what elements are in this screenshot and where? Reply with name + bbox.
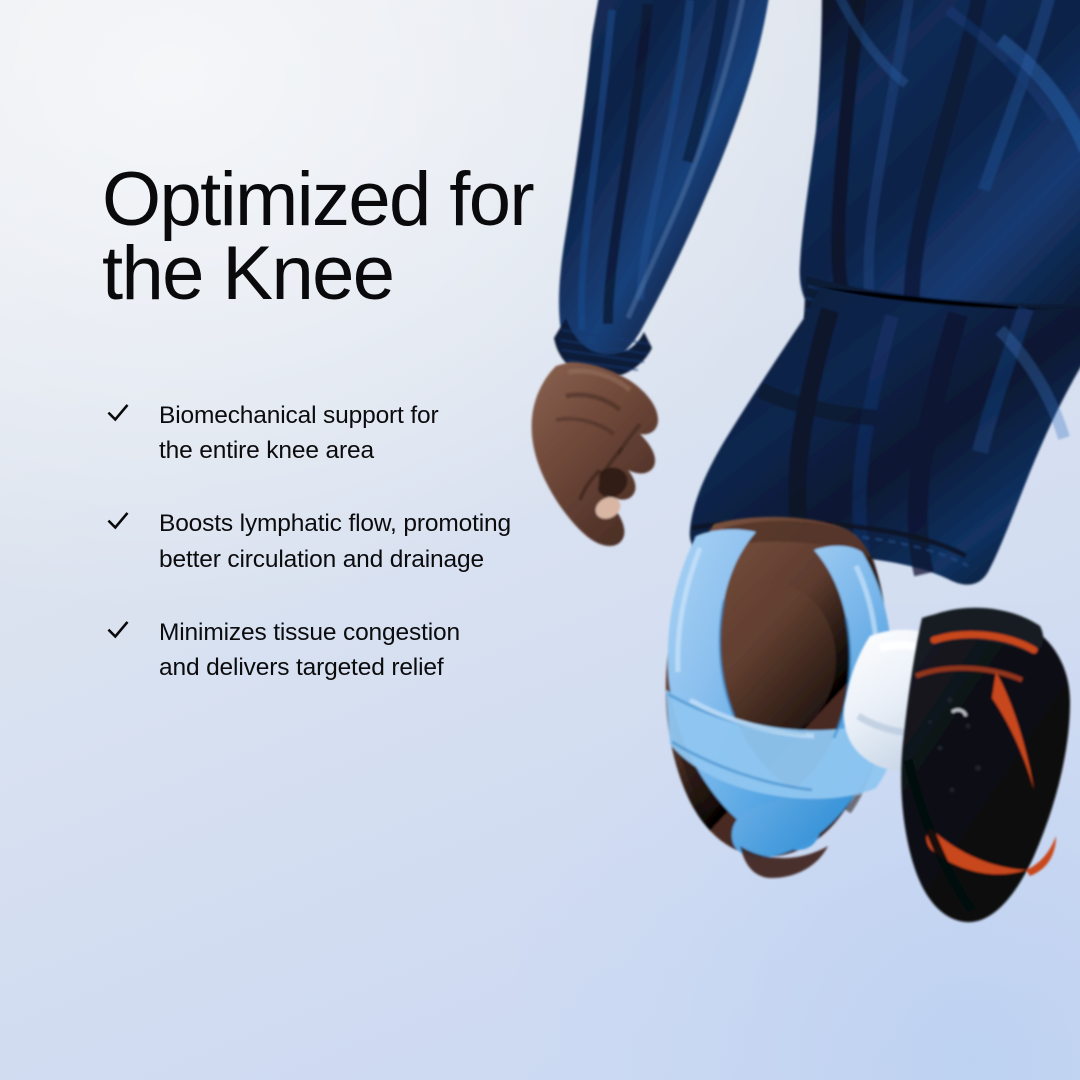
sweatshirt-sleeve [554, 0, 770, 378]
check-icon [105, 508, 131, 534]
list-item: Boosts lymphatic flow, promoting better … [102, 506, 572, 577]
list-item-label: Biomechanical support for the entire kne… [159, 398, 572, 469]
check-icon [105, 400, 131, 426]
background-blue-wash [518, 605, 1080, 1080]
list-item: Minimizes tissue congestion and delivers… [102, 615, 572, 686]
sock [844, 630, 980, 772]
page-title: Optimized for the Knee [102, 163, 572, 312]
list-item-label: Minimizes tissue congestion and delivers… [159, 615, 572, 686]
benefit-list: Biomechanical support for the entire kne… [102, 398, 572, 686]
poster-canvas: Optimized for the Knee Biomechanical sup… [0, 0, 1080, 1080]
shorts [690, 288, 1080, 585]
check-icon [105, 617, 131, 643]
taped-knee [666, 517, 900, 878]
soccer-cleat [901, 608, 1070, 922]
list-item: Biomechanical support for the entire kne… [102, 398, 572, 469]
sweatshirt-torso [800, 0, 1080, 360]
copy-block: Optimized for the Knee Biomechanical sup… [102, 163, 572, 686]
list-item-label: Boosts lymphatic flow, promoting better … [159, 506, 572, 577]
